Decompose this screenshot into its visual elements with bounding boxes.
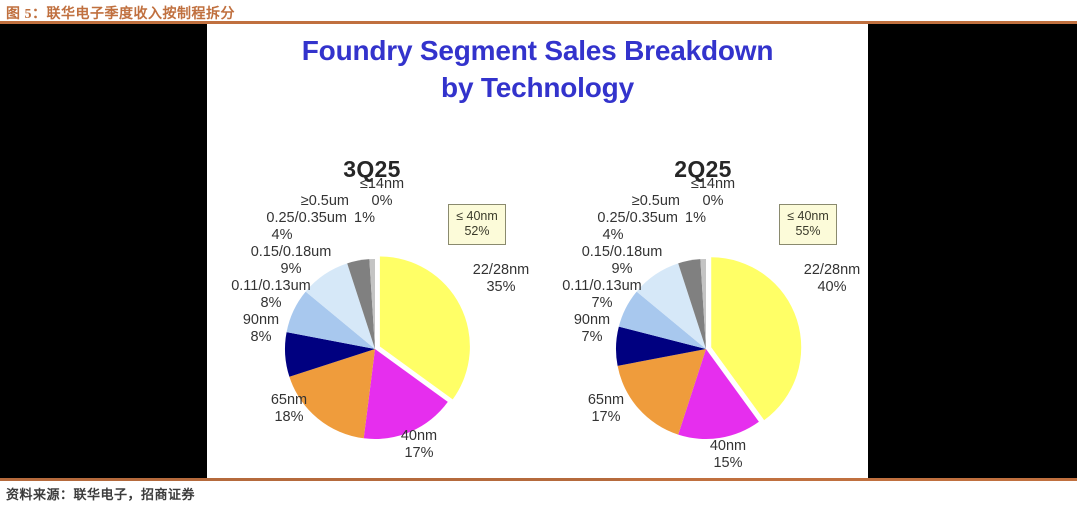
slide-gutter-left [0, 24, 207, 478]
pie-label-22-28nm-value-3q25: 35% [459, 279, 543, 296]
pie-label-90nm-2q25: 90nm 7% [550, 312, 634, 346]
pie-label-40nm-3q25: 40nm 17% [377, 428, 461, 462]
slide-gutter-right [868, 24, 1077, 478]
pie-label-40nm-2q25: 40nm 15% [686, 438, 770, 472]
pie-label-le14nm-2q25: ≤14nm 0% [678, 176, 748, 210]
pie-label-65nm-3q25: 65nm 18% [247, 392, 331, 426]
pie-label-ge05um-value-wrap-2q25: 1% [685, 210, 706, 227]
pie-label-011-013um-value-3q25: 8% [205, 295, 337, 312]
pie-label-ge05um-name-3q25: ≥0.5um [301, 193, 349, 209]
pie-panel-2q25: 2Q25 ≤ 40nm 55% ≤14nm 0% ≥0.5um 1% 0.25/… [538, 128, 868, 478]
pie-label-ge05um-3q25: ≥0.5um [257, 193, 349, 210]
pie-label-015-018um-name-3q25: 0.15/0.18um [251, 244, 332, 260]
slide-title-line-2: by Technology [207, 69, 868, 106]
pie-label-ge05um-value-3q25: 1% [354, 210, 375, 226]
pie-label-22-28nm-name-3q25: 22/28nm [473, 262, 529, 278]
pie-label-ge05um-value-wrap-3q25: 1% [354, 210, 375, 227]
pie-label-le14nm-value-3q25: 0% [347, 193, 417, 210]
figure-page: 图 5：联华电子季度收入按制程拆分 Foundry Segment Sales … [0, 0, 1077, 505]
pie-label-ge05um-2q25: ≥0.5um [588, 193, 680, 210]
pie-label-011-013um-3q25: 0.11/0.13um 8% [205, 278, 337, 312]
figure-title: 图 5：联华电子季度收入按制程拆分 [6, 3, 235, 23]
pie-label-011-013um-name-2q25: 0.11/0.13um [562, 278, 642, 294]
pie-label-015-018um-value-3q25: 9% [225, 261, 357, 278]
pie-label-le14nm-value-2q25: 0% [678, 193, 748, 210]
pie-label-le14nm-name-3q25: ≤14nm [360, 176, 404, 192]
pie-label-40nm-name-2q25: 40nm [710, 438, 746, 454]
pie-label-90nm-3q25: 90nm 8% [219, 312, 303, 346]
pie-label-015-018um-3q25: 0.15/0.18um 9% [225, 244, 357, 278]
pie-label-65nm-value-3q25: 18% [247, 409, 331, 426]
slide-title: Foundry Segment Sales Breakdown by Techn… [207, 32, 868, 106]
pie-label-40nm-value-3q25: 17% [377, 445, 461, 462]
pie-label-le14nm-3q25: ≤14nm 0% [347, 176, 417, 210]
pie-label-65nm-value-2q25: 17% [564, 409, 648, 426]
pie-label-011-013um-2q25: 0.11/0.13um 7% [536, 278, 668, 312]
pie-panel-3q25: 3Q25 ≤ 40nm 52% ≤14nm 0% ≥0.5um 1% 0.25/… [207, 128, 537, 478]
pie-label-65nm-name-2q25: 65nm [588, 392, 624, 408]
pie-label-011-013um-value-2q25: 7% [536, 295, 668, 312]
pie-label-40nm-name-3q25: 40nm [401, 428, 437, 444]
pie-label-015-018um-2q25: 0.15/0.18um 9% [556, 244, 688, 278]
pie-label-90nm-name-3q25: 90nm [243, 312, 279, 328]
pie-label-90nm-value-3q25: 8% [219, 329, 303, 346]
pie-label-011-013um-name-3q25: 0.11/0.13um [231, 278, 311, 294]
footer-rule-accent [0, 478, 620, 481]
pie-label-025-035um-name-3q25: 0.25/0.35um [266, 210, 347, 226]
pie-label-025-035um-value-wrap-3q25: 4% [262, 227, 302, 244]
pie-label-025-035um-2q25: 0.25/0.35um [538, 210, 678, 227]
pie-label-025-035um-value-wrap-2q25: 4% [593, 227, 633, 244]
slide-title-line-1: Foundry Segment Sales Breakdown [207, 32, 868, 69]
pie-label-015-018um-value-2q25: 9% [556, 261, 688, 278]
pie-label-65nm-name-3q25: 65nm [271, 392, 307, 408]
pie-label-22-28nm-3q25: 22/28nm 35% [459, 262, 543, 296]
pie-label-025-035um-value-3q25: 4% [272, 227, 293, 243]
slide-canvas: Foundry Segment Sales Breakdown by Techn… [207, 24, 868, 478]
pie-label-ge05um-name-2q25: ≥0.5um [632, 193, 680, 209]
pie-label-22-28nm-value-2q25: 40% [790, 279, 874, 296]
pie-label-015-018um-name-2q25: 0.15/0.18um [582, 244, 663, 260]
pie-label-ge05um-value-2q25: 1% [685, 210, 706, 226]
pie-label-22-28nm-2q25: 22/28nm 40% [790, 262, 874, 296]
figure-source: 资料来源：联华电子，招商证券 [6, 484, 195, 503]
pie-label-025-035um-3q25: 0.25/0.35um [207, 210, 347, 227]
pie-label-90nm-value-2q25: 7% [550, 329, 634, 346]
pie-label-90nm-name-2q25: 90nm [574, 312, 610, 328]
pie-label-40nm-value-2q25: 15% [686, 455, 770, 472]
pie-label-65nm-2q25: 65nm 17% [564, 392, 648, 426]
pie-label-025-035um-value-2q25: 4% [603, 227, 624, 243]
pie-label-le14nm-name-2q25: ≤14nm [691, 176, 735, 192]
pie-label-025-035um-name-2q25: 0.25/0.35um [597, 210, 678, 226]
pie-label-22-28nm-name-2q25: 22/28nm [804, 262, 860, 278]
